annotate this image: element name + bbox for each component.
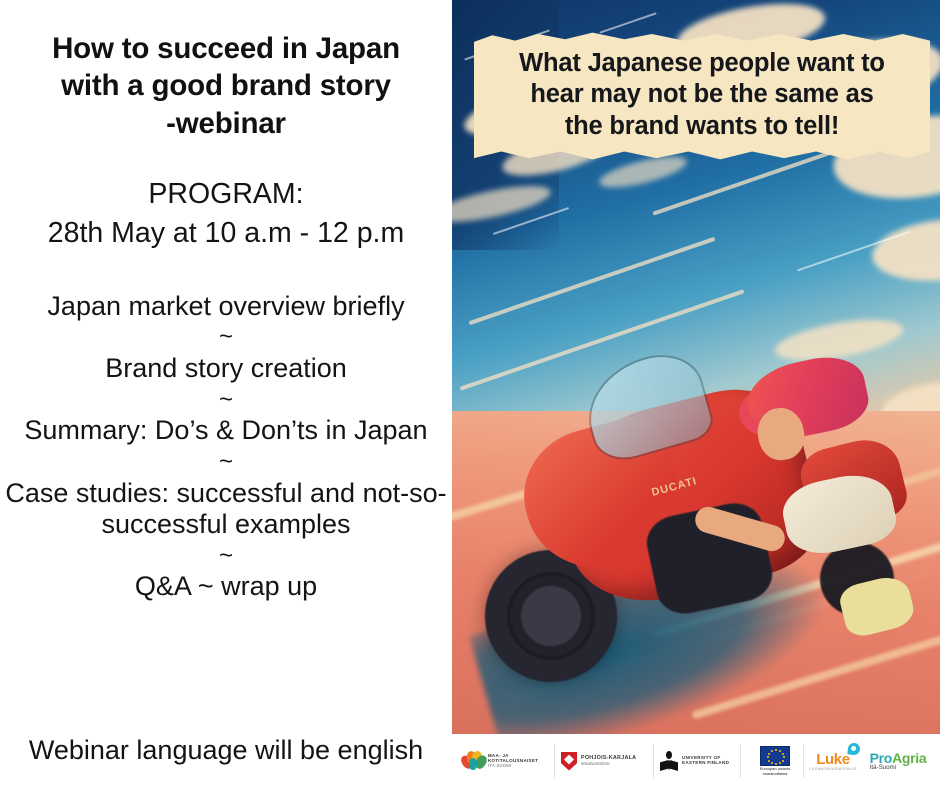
agenda-item: Q&A ~ wrap up [0, 571, 452, 603]
banner-line-2: hear may not be the same as [488, 79, 916, 110]
logo-sublabel: osarahoittama [763, 772, 788, 776]
logo-sublabel: ITÄ-SUOMI [488, 764, 554, 769]
right-image-column: DUCATI What Japanese people want to hear… [452, 0, 940, 788]
agenda-item: Brand story creation [0, 353, 452, 385]
agenda-separator: ~ [0, 541, 452, 572]
book-leaf-icon [660, 751, 678, 771]
logo-label: Luke [816, 752, 849, 767]
program-label: PROGRAM: [8, 176, 444, 213]
program-block: PROGRAM: 28th May at 10 a.m - 12 p.m [8, 176, 444, 254]
logo-university-of-eastern-finland: UNIVERSITY OF EASTERN FINLAND [654, 751, 740, 771]
agenda-separator: ~ [0, 385, 452, 416]
left-text-column: How to succeed in Japan with a good bran… [0, 0, 452, 788]
agenda-item: Case studies: successful and not-so-succ… [0, 478, 452, 541]
agenda-separator: ~ [0, 322, 452, 353]
agenda-separator: ~ [0, 447, 452, 478]
webinar-poster: How to succeed in Japan with a good bran… [0, 0, 940, 788]
sponsor-logo-strip: MAA- JA KOTITALOUSNAISET ITÄ-SUOMI POHJO… [452, 734, 940, 788]
logo-label: ProAgria [870, 751, 927, 765]
agenda-item: Summary: Do’s & Don’ts in Japan [0, 415, 452, 447]
eu-flag-icon [760, 746, 790, 766]
logo-sublabel: Maakuntaliitto [581, 762, 636, 767]
logo-sublabel: Itä-Suomi [870, 765, 897, 771]
logo-luke: Luke LUONNONVARAKESKUS [804, 752, 862, 771]
banner-line-1: What Japanese people want to [488, 48, 916, 79]
headline-banner: What Japanese people want to hear may no… [474, 30, 930, 162]
banner-text: What Japanese people want to hear may no… [488, 48, 916, 142]
logo-maa-ja-kotitalousnaiset: MAA- JA KOTITALOUSNAISET ITÄ-SUOMI [458, 751, 554, 771]
flower-icon [462, 751, 484, 771]
banner-line-3: the brand wants to tell! [488, 111, 916, 142]
logo-proagria: ProAgria Itä-Suomi [862, 751, 934, 771]
page-title: How to succeed in Japan with a good bran… [16, 30, 436, 142]
logo-sublabel: LUONNONVARAKESKUS [809, 767, 856, 771]
title-line-2: with a good brand story [16, 67, 436, 104]
logo-sublabel: EASTERN FINLAND [682, 761, 729, 766]
webinar-language-note: Webinar language will be english [0, 735, 452, 766]
title-line-1: How to succeed in Japan [16, 30, 436, 67]
leaf-icon [847, 742, 861, 756]
program-date: 28th May at 10 a.m - 12 p.m [8, 213, 444, 254]
logo-european-union: Euroopan unionin osarahoittama [741, 746, 803, 777]
motorcycle-artwork: DUCATI What Japanese people want to hear… [452, 0, 940, 734]
agenda-item: Japan market overview briefly [0, 291, 452, 323]
motorcycle-and-rider: DUCATI [472, 279, 921, 690]
agenda-list: Japan market overview briefly ~ Brand st… [0, 291, 452, 603]
logo-pohjois-karjala: POHJOIS-KARJALA Maakuntaliitto [555, 752, 653, 771]
coat-of-arms-icon [561, 752, 577, 771]
title-line-3: -webinar [16, 105, 436, 142]
